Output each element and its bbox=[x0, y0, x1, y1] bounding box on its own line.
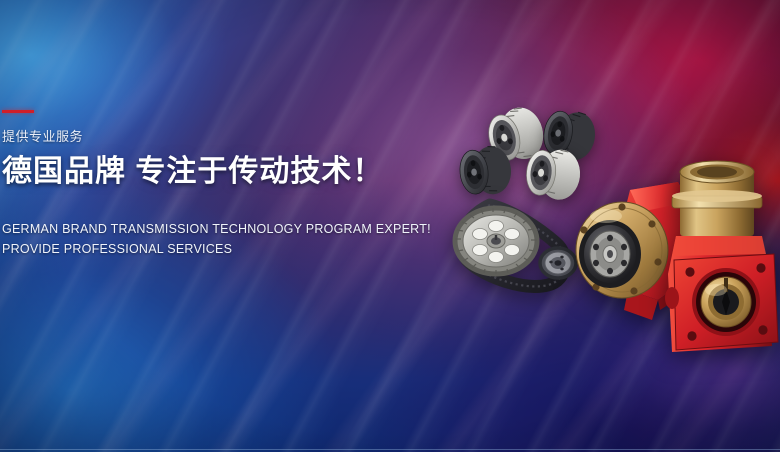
subtitle-chinese: 提供专业服务 bbox=[2, 126, 420, 145]
subtitle-english-group: GERMAN BRAND TRANSMISSION TECHNOLOGY PRO… bbox=[2, 219, 420, 260]
hero-banner: 提供专业服务 德国品牌 专注于传动技术！ GERMAN BRAND TRANSM… bbox=[0, 0, 780, 452]
bottom-hairline bbox=[0, 449, 780, 450]
hero-text-block: 提供专业服务 德国品牌 专注于传动技术！ GERMAN BRAND TRANSM… bbox=[0, 110, 420, 259]
subtitle-english-line-1: GERMAN BRAND TRANSMISSION TECHNOLOGY PRO… bbox=[2, 219, 420, 239]
headline-chinese: 德国品牌 专注于传动技术！ bbox=[2, 154, 420, 191]
accent-rule bbox=[2, 110, 34, 113]
subtitle-english-line-2: PROVIDE PROFESSIONAL SERVICES bbox=[2, 239, 420, 259]
